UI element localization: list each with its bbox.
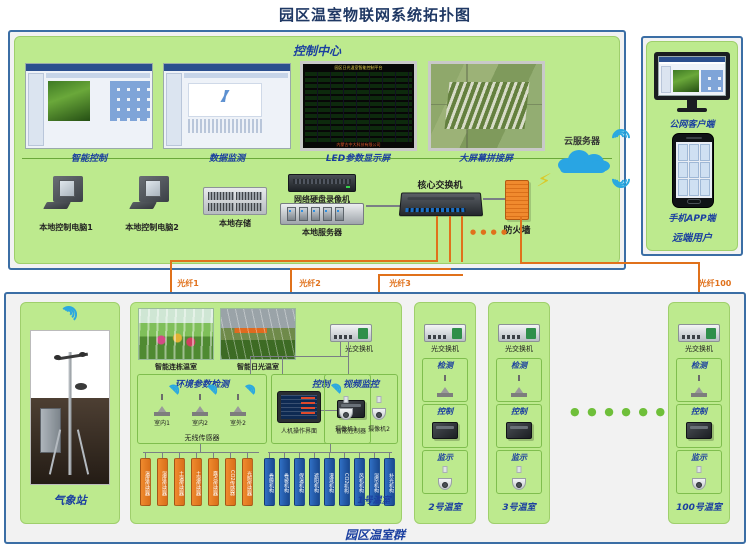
fiber-drop-1 [436, 216, 438, 262]
sensor-base [691, 393, 707, 397]
core-switch-icon[interactable] [399, 192, 483, 216]
device-label-local-control-pc-2: 本地控制电脑2 [125, 222, 179, 233]
branch-down-video [348, 342, 349, 374]
wireless-sensor-icon-2[interactable] [192, 394, 208, 416]
screen-label-data-monitoring: 数据监测 [209, 151, 245, 164]
sensor-chip[interactable]: 湿度传感器 [157, 458, 168, 506]
weather-station-icon[interactable] [30, 330, 110, 485]
actuator-chip[interactable]: 灌溉机构 [324, 458, 335, 506]
screen-body [164, 71, 290, 148]
camera-lens [376, 412, 382, 418]
fiber-switch-house-2[interactable] [424, 324, 466, 342]
sensor-base [192, 412, 208, 416]
aerial-grid-overlay [431, 64, 542, 148]
switch-uplink-port [358, 328, 368, 339]
hmi-label: 人机操作界面 [281, 426, 317, 435]
device-label-local-storage: 本地存储 [219, 218, 251, 229]
sensor-chip-bus [143, 452, 259, 453]
cloud-icon [556, 148, 612, 174]
camera-icon[interactable] [510, 466, 528, 490]
camera-label-2: 摄像机2 [368, 424, 390, 433]
switch-ports [428, 335, 446, 339]
actuator-chip[interactable]: 遮阳机构 [309, 458, 320, 506]
screen-data-monitoring[interactable] [163, 63, 291, 149]
remote-monitor-screen [658, 56, 726, 96]
chip-stem [145, 452, 146, 458]
screen-body [26, 71, 152, 148]
sensor-label-indoor-1: 室内1 [154, 418, 170, 427]
fiber-drop-2 [449, 216, 451, 262]
remote-users-title: 远端用户 [646, 229, 738, 244]
hmi-panel-icon[interactable] [277, 391, 321, 423]
chip-stem [247, 452, 248, 458]
firewall-icon[interactable] [505, 180, 529, 220]
camera-neck [517, 466, 522, 473]
greenhouse-group-title: 园区温室群 [4, 526, 746, 543]
screen-label-intelligent-control: 智能控制 [71, 151, 107, 164]
sensor-chip[interactable]: CO2传感器 [225, 458, 236, 506]
screen-header-bar [26, 64, 152, 71]
screen-led-display[interactable]: 园区日光温室智能控制平台 内蒙古中大科技有限公司 [300, 61, 417, 151]
camera-neck [377, 396, 382, 403]
sensor-label-outdoor-2: 室外2 [230, 418, 246, 427]
greenhouse-2-label: 2号温室 [428, 500, 461, 513]
fiber-drop-ellipsis: ● ● ● ● [470, 228, 508, 236]
camera-lens [696, 482, 702, 488]
sensor-base [437, 393, 453, 397]
keyboard-icon [43, 202, 71, 209]
antenna [237, 394, 239, 400]
screen-sidebar [28, 73, 44, 146]
chip-stem [359, 452, 360, 458]
house-3-section-title-detect: 检测 [496, 360, 542, 371]
wifi-signal-icon-right [616, 166, 634, 184]
chip-stem [314, 452, 315, 458]
screen-video-wall[interactable] [428, 61, 545, 151]
greenhouse-photo-solar [220, 308, 296, 360]
wireless-sensor-icon[interactable] [437, 375, 453, 397]
remote-monitor[interactable] [654, 52, 730, 114]
wifi-signal-icon-left [616, 133, 634, 151]
chip-stem [269, 452, 270, 458]
greenhouse-3-label: 3号温室 [502, 500, 535, 513]
anemometer-cup [79, 352, 86, 357]
controller-icon[interactable] [432, 422, 458, 439]
screen-tabs [184, 73, 288, 78]
device-label-local-control-pc-1: 本地控制电脑1 [39, 222, 93, 233]
control-center-divider [22, 158, 612, 159]
device-label-core-switch: 核心交换机 [417, 178, 462, 191]
sensor-base [230, 412, 246, 416]
wireless-sensor-icon-3[interactable] [230, 394, 246, 416]
fiber-label-100: 光纤100 [699, 278, 732, 289]
greenhouse-photo-multispan [138, 308, 214, 360]
actuator-chip[interactable]: 保温机构 [294, 458, 305, 506]
page-title: 园区温室物联网系统拓扑图 [0, 4, 750, 25]
hmi-screen [281, 395, 317, 419]
fiber-switch-label-house-2: 光交换机 [431, 344, 459, 354]
chip-stem [196, 452, 197, 458]
camera-lens [516, 482, 522, 488]
branch-down-detect [250, 356, 251, 374]
led-header-text: 园区日光温室智能控制平台 [303, 64, 414, 71]
chip-stem [284, 452, 285, 458]
house-2-section-title-control: 控制 [422, 406, 468, 417]
screen-intelligent-control[interactable] [25, 63, 153, 149]
fiber-run-100 [520, 262, 700, 264]
fiber-label-3: 光纤3 [389, 278, 411, 289]
cloud-label: 云服务器 [564, 134, 600, 147]
branch-down-control [282, 356, 283, 374]
camera-neck [443, 466, 448, 473]
fiber-switch-label-house-3: 光交换机 [505, 344, 533, 354]
desktop-pc-icon [139, 176, 169, 202]
desktop-pc-icon [53, 176, 83, 202]
keyboard-icon [129, 202, 157, 209]
actuator-bus-stem [330, 444, 331, 452]
antenna [698, 375, 700, 381]
fiber-switch-label-house-100: 光交换机 [685, 344, 713, 354]
sensor-chip[interactable]: 土湿传感器 [191, 458, 202, 506]
fiber-label-2: 光纤2 [299, 278, 321, 289]
screen-control-grid [110, 81, 150, 121]
sensor-chip[interactable]: 光照传感器 [242, 458, 253, 506]
fiber-elbow-1 [170, 260, 172, 294]
fiber-label-1: 光纤1 [177, 278, 199, 289]
house-2-section-title-monitor: 监示 [422, 452, 468, 463]
chip-stem [162, 452, 163, 458]
nvr-icon[interactable] [288, 174, 356, 192]
camera-neck [344, 396, 349, 403]
remote-smartphone[interactable] [672, 133, 714, 208]
branch-bus-house-1 [250, 356, 348, 357]
switch-uplink-port [526, 328, 536, 339]
actuator-chip[interactable]: 卷被机构 [279, 458, 290, 506]
switch-ports [405, 208, 465, 212]
switch-ports [502, 335, 520, 339]
antenna [518, 375, 520, 381]
antenna [161, 394, 163, 400]
switch-uplink-port [706, 328, 716, 339]
smartphone-screen [676, 142, 712, 198]
switch-ports [682, 335, 700, 339]
house-3-section-title-monitor: 监示 [496, 452, 542, 463]
house-100-section-title-detect: 检测 [676, 360, 722, 371]
camera-icon[interactable] [436, 466, 454, 490]
chip-stem [389, 452, 390, 458]
switch-ridge [407, 197, 474, 200]
camera-icon-1[interactable] [337, 396, 355, 420]
fiber-switch-label-house-1: 光交换机 [345, 344, 373, 354]
camera-lens [442, 482, 448, 488]
chip-stem [344, 452, 345, 458]
wireless-sensor-icon[interactable] [511, 375, 527, 397]
fiber-drop-3 [461, 216, 463, 262]
nvr-status-led [346, 186, 350, 188]
house-2-section-title-detect: 检测 [422, 360, 468, 371]
greenhouse-100-label: 100号温室 [676, 500, 722, 513]
antenna [199, 394, 201, 400]
antenna [444, 375, 446, 381]
equipment-cabinet [40, 408, 60, 454]
fiber-switch-house-1[interactable] [330, 324, 372, 342]
chip-stem [230, 452, 231, 458]
controller-icon[interactable] [686, 422, 712, 439]
camera-icon-2[interactable] [370, 396, 388, 420]
chip-stem [299, 452, 300, 458]
storage-array-icon[interactable] [203, 187, 267, 215]
fiber-run-3 [378, 274, 463, 276]
fiber-switch-house-3[interactable] [498, 324, 540, 342]
house-100-section-title-control: 控制 [676, 406, 722, 417]
sensor-label-indoor-2: 室内2 [192, 418, 208, 427]
chip-stem [374, 452, 375, 458]
screen-label-led-display: LED参数显示屏 [326, 151, 390, 164]
led-footer-text: 内蒙古中大科技有限公司 [303, 142, 414, 148]
sensor-chip[interactable]: 露点传感器 [208, 458, 219, 506]
sensor-bus-stem [200, 444, 201, 452]
greenhouse-ellipsis: ● ● ● ● ● ● [570, 405, 667, 418]
remote-monitor-label: 公网客户端 [669, 117, 714, 130]
screen-header-bar [164, 64, 290, 71]
fiber-elbow-3 [378, 274, 380, 294]
chip-stem [329, 452, 330, 458]
fiber-drop-100 [520, 216, 522, 262]
fiber-run-1 [170, 260, 438, 262]
fiber-switch-house-100[interactable] [678, 324, 720, 342]
section-caption-wireless-sensors: 无线传感器 [185, 433, 220, 443]
device-local-control-pc-1[interactable] [45, 176, 91, 216]
branch-switch-stem [340, 342, 341, 356]
fiber-run-2 [290, 268, 451, 270]
screen-sidebar [166, 73, 182, 146]
controller-icon[interactable] [506, 422, 532, 439]
camera-icon[interactable] [690, 466, 708, 490]
device-label-local-server: 本地服务器 [302, 227, 342, 238]
wireless-sensor-icon-1[interactable] [154, 394, 170, 416]
house-3-section-title-control: 控制 [496, 406, 542, 417]
chip-stem [179, 452, 180, 458]
switch-uplink-port [452, 328, 462, 339]
sensor-chip[interactable]: 温度传感器 [140, 458, 151, 506]
screen-line-chart [188, 83, 262, 117]
wireless-sensor-icon[interactable] [691, 375, 707, 397]
camera-label-1: 摄像机1 [335, 424, 357, 433]
chip-stem [213, 452, 214, 458]
house-100-section-title-monitor: 监示 [676, 452, 722, 463]
camera-lens [343, 412, 349, 418]
greenhouse-photo-label-multispan: 智能连栋温室 [155, 362, 197, 372]
screen-crop-photo [48, 81, 90, 121]
mast [69, 352, 72, 474]
rack-server-icon[interactable] [280, 203, 364, 225]
greenhouse-1-label: 1号温室 [357, 493, 390, 506]
control-center-title: 控制中心 [14, 42, 620, 59]
radiation-sensor [75, 383, 87, 390]
weather-station-label: 气象站 [54, 492, 87, 508]
screen-label-video-wall: 大屏幕拼接屏 [459, 151, 513, 164]
sensor-chip[interactable]: 土温传感器 [174, 458, 185, 506]
led-parameter-rows [305, 72, 412, 142]
sensor-base [154, 412, 170, 416]
camera-neck [697, 466, 702, 473]
sensor-base [511, 393, 527, 397]
fiber-elbow-2 [290, 268, 292, 294]
screen-tabs [46, 73, 150, 78]
screen-bar-chart [188, 119, 262, 133]
actuator-chip[interactable]: CO2机构 [339, 458, 350, 506]
greenhouse-photo-label-solar: 智能日光温室 [237, 362, 279, 372]
actuator-chip[interactable]: 卷膜机构 [264, 458, 275, 506]
remote-smartphone-label: 手机APP端 [668, 211, 715, 224]
device-local-control-pc-2[interactable] [131, 176, 177, 216]
section-title-video-surveillance: 视频监控 [324, 377, 398, 390]
switch-ports [334, 335, 352, 339]
link-core-switch-to-firewall [483, 198, 505, 200]
